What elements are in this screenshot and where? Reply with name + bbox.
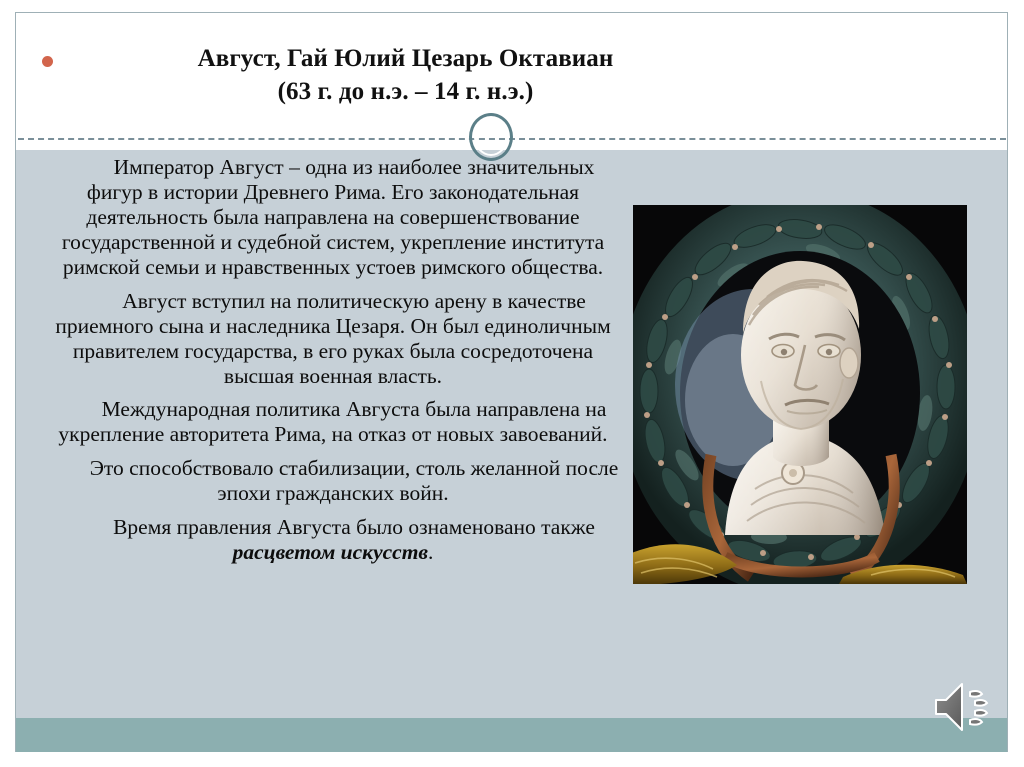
paragraph-5: Время правления Августа было ознаменован… [44,515,622,565]
bottom-accent-bar [16,718,1007,752]
paragraph-1: Император Август – одна из наиболее знач… [44,155,622,280]
page-title: Август, Гай Юлий Цезарь Октавиан (63 г. … [69,43,742,108]
paragraph-5-emphasis: расцветом искусств [233,540,428,564]
augustus-cameo-portrait [633,205,967,584]
presentation-slide: Август, Гай Юлий Цезарь Октавиан (63 г. … [0,0,1024,767]
title-line-2: (63 г. до н.э. – 14 г. н.э.) [69,76,742,109]
paragraph-4: Это способствовало стабилизации, столь ж… [44,456,622,506]
decorative-ring-inner-icon [474,118,508,156]
paragraph-5-tail: . [428,540,433,564]
paragraph-5-plain: Время правления Августа было ознаменован… [113,515,595,539]
speaker-icon[interactable] [932,678,994,736]
body-text-column: Император Август – одна из наиболее знач… [44,155,622,574]
title-band: Август, Гай Юлий Цезарь Октавиан (63 г. … [16,13,1007,139]
title-line-1: Август, Гай Юлий Цезарь Октавиан [198,45,614,72]
paragraph-3: Международная политика Августа была напр… [44,397,622,447]
title-bullet-row: Август, Гай Юлий Цезарь Октавиан (63 г. … [42,43,742,108]
bullet-dot-icon [42,56,53,67]
paragraph-2: Август вступил на политическую арену в к… [44,289,622,389]
